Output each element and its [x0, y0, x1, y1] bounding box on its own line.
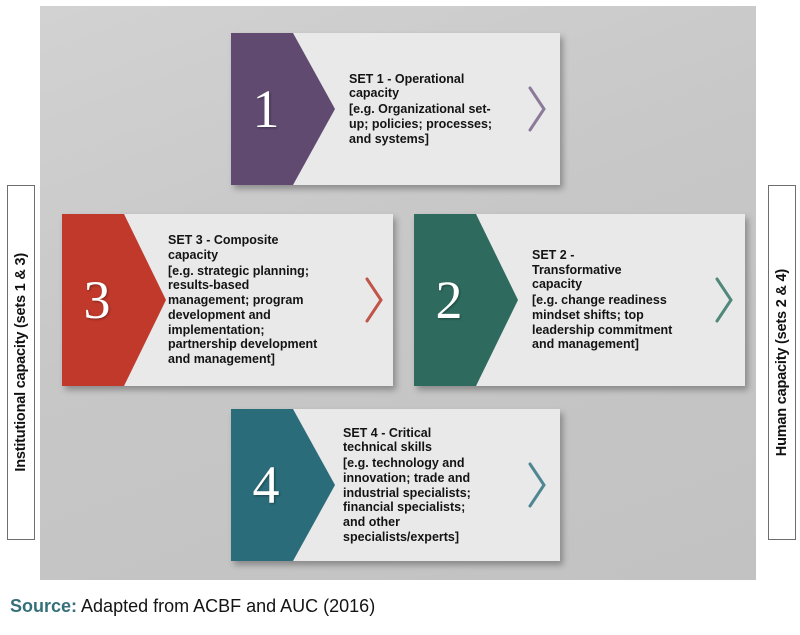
set1-detail: [e.g. Organizational set- up; policies; …: [349, 102, 512, 146]
set2-heading: SET 2 - Transformative capacity: [532, 248, 699, 292]
set1-heading: SET 1 - Operational capacity: [349, 72, 512, 102]
set4-detail: [e.g. technology and innovation; trade a…: [343, 456, 514, 545]
set3-wedge: 3: [62, 214, 166, 386]
set2-chevron-right-icon: [713, 277, 735, 323]
source-text: Adapted from ACBF and AUC (2016): [77, 596, 375, 616]
human-capacity-label: Human capacity (sets 2 & 4): [768, 185, 796, 540]
institutional-capacity-label: Institutional capacity (sets 1 & 3): [7, 185, 35, 540]
set4-chevron-right-icon: [526, 462, 548, 508]
capacity-card-set2[interactable]: 2 SET 2 - Transformative capacity [e.g. …: [414, 214, 745, 386]
set1-number: 1: [231, 33, 335, 185]
set1-wedge: 1: [231, 33, 335, 185]
set3-heading: SET 3 - Composite capacity: [168, 233, 351, 263]
set4-wedge: 4: [231, 409, 335, 561]
capacity-framework-figure: Institutional capacity (sets 1 & 3) Huma…: [0, 0, 800, 635]
set2-body: SET 2 - Transformative capacity [e.g. ch…: [532, 214, 699, 386]
set2-detail: [e.g. change readiness mindset shifts; t…: [532, 293, 699, 352]
capacity-card-set3[interactable]: 3 SET 3 - Composite capacity [e.g. strat…: [62, 214, 393, 386]
source-caption: Source: Adapted from ACBF and AUC (2016): [10, 596, 375, 617]
capacity-card-set1[interactable]: 1 SET 1 - Operational capacity [e.g. Org…: [231, 33, 560, 185]
institutional-capacity-label-text: Institutional capacity (sets 1 & 3): [13, 253, 29, 472]
set4-heading: SET 4 - Critical technical skills: [343, 426, 514, 456]
set1-body: SET 1 - Operational capacity [e.g. Organ…: [349, 33, 512, 185]
set3-detail: [e.g. strategic planning; results-based …: [168, 264, 351, 367]
set2-wedge: 2: [414, 214, 518, 386]
set3-chevron-right-icon: [363, 277, 385, 323]
set1-chevron-right-icon: [526, 86, 548, 132]
set2-number: 2: [414, 214, 518, 386]
source-label: Source:: [10, 596, 77, 616]
set3-body: SET 3 - Composite capacity [e.g. strateg…: [168, 214, 351, 386]
capacity-card-set4[interactable]: 4 SET 4 - Critical technical skills [e.g…: [231, 409, 560, 561]
human-capacity-label-text: Human capacity (sets 2 & 4): [774, 269, 790, 456]
set4-body: SET 4 - Critical technical skills [e.g. …: [343, 409, 514, 561]
set3-number: 3: [62, 214, 166, 386]
set4-number: 4: [231, 409, 335, 561]
